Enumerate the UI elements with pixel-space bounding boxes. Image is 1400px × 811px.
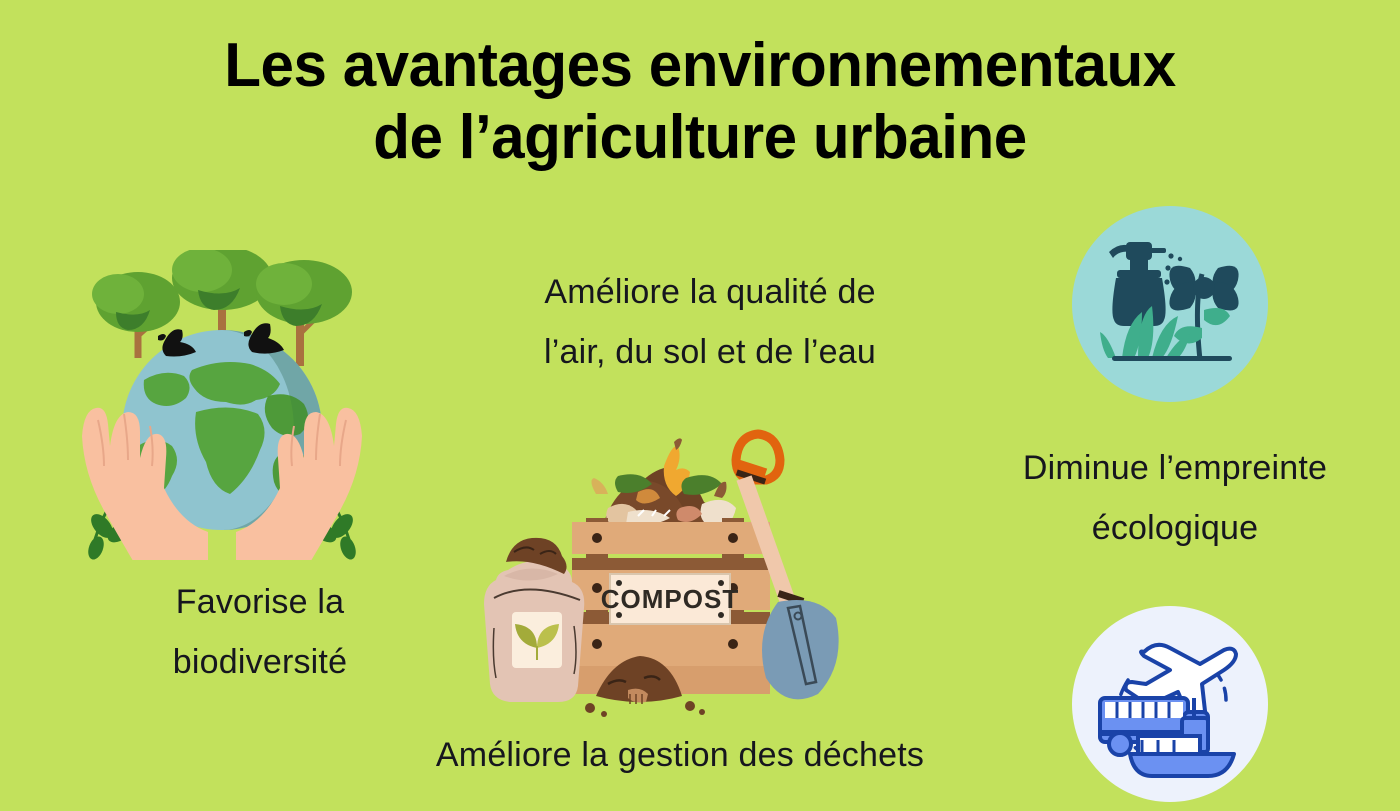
soil-sack: [484, 538, 584, 702]
ground-line: [1112, 356, 1232, 361]
spray-flower-circle-icon: [1072, 206, 1268, 402]
page-title: Les avantages environnementaux de l’agri…: [21, 30, 1379, 174]
caption-empreinte: Diminue l’empreinte écologique: [960, 438, 1390, 558]
title-line-2: de l’agriculture urbaine: [21, 102, 1379, 174]
caption-empreinte-line-1: Diminue l’empreinte: [960, 438, 1390, 498]
caption-qualite-line-1: Améliore la qualité de: [400, 262, 1020, 322]
bird-right: [244, 323, 284, 353]
caption-empreinte-line-2: écologique: [960, 498, 1390, 558]
caption-dechets-line-1: Améliore la gestion des déchets: [330, 732, 1030, 778]
compost-sign-text: COMPOST: [601, 584, 739, 614]
caption-qualite: Améliore la qualité de l’air, du sol et …: [400, 262, 1020, 382]
caption-biodiversite-line-1: Favorise la: [60, 572, 460, 632]
compost-sign: COMPOST: [601, 574, 739, 624]
infographic-canvas: Les avantages environnementaux de l’agri…: [0, 0, 1400, 811]
transport-circle-icon: [1072, 606, 1268, 802]
caption-qualite-line-2: l’air, du sol et de l’eau: [400, 322, 1020, 382]
caption-biodiversite-line-2: biodiversité: [60, 632, 460, 692]
food-waste-pile: [591, 438, 736, 534]
earth-in-hands-illustration: [72, 250, 372, 560]
compost-bin-illustration: COMPOST: [478, 412, 848, 727]
caption-biodiversite: Favorise la biodiversité: [60, 572, 460, 692]
title-line-1: Les avantages environnementaux: [21, 30, 1379, 102]
caption-dechets: Améliore la gestion des déchets: [330, 732, 1030, 778]
